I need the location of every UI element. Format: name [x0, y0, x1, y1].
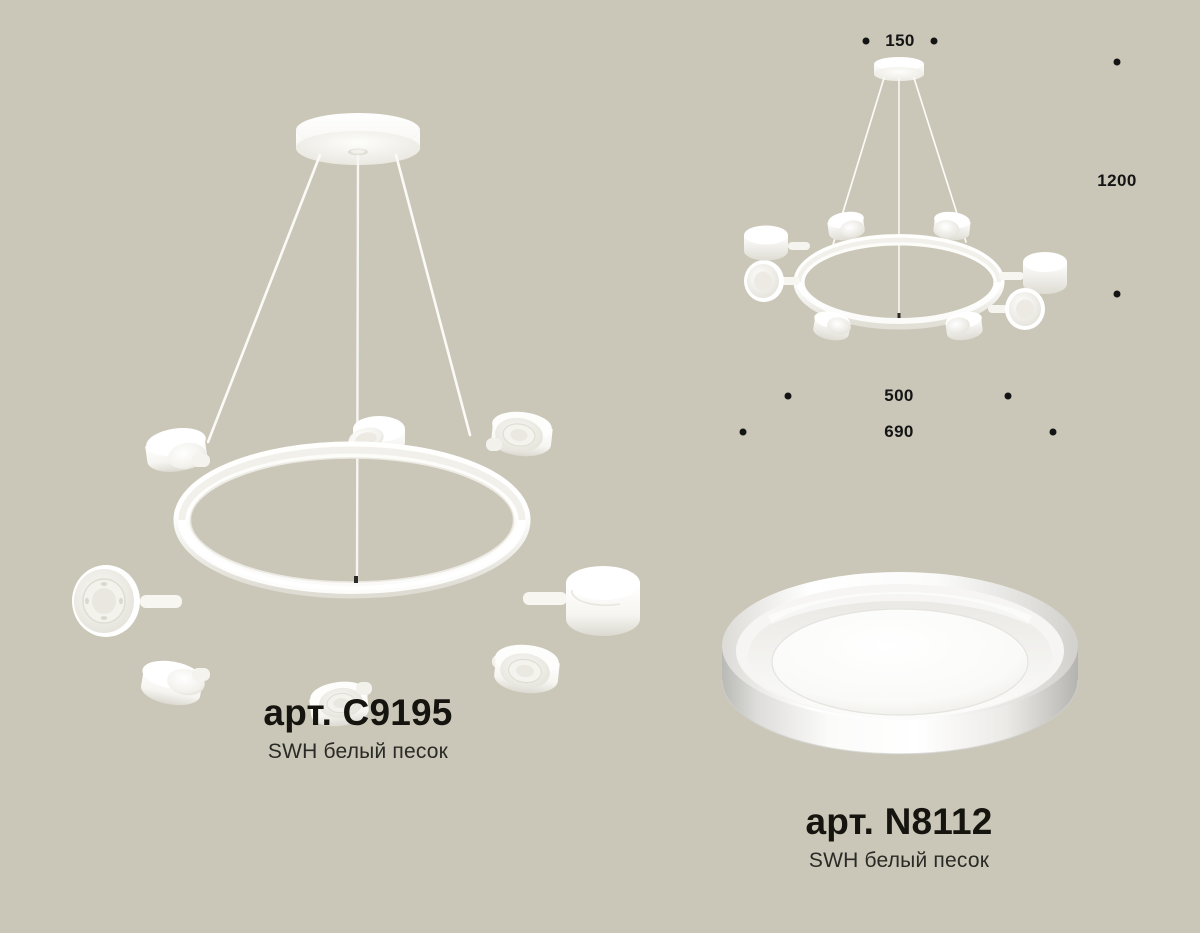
- caption-n8112: арт. N8112 SWH белый песок: [805, 803, 992, 872]
- finish-label-n8112: SWH белый песок: [805, 849, 992, 872]
- dimension-dot-500-right: [1005, 393, 1012, 400]
- dimension-label-690: 690: [884, 422, 914, 442]
- product-image-c9195-dimensioned: [700, 30, 1100, 390]
- dimension-dot-1200-top: [1114, 59, 1121, 66]
- article-number-n8112: арт. N8112: [805, 803, 992, 842]
- spot-head-lower-right: [492, 642, 560, 696]
- spot-head-lower-left: [139, 656, 210, 709]
- spot-head-left: [72, 565, 182, 637]
- caption-c9195: арт. C9195 SWH белый песок: [263, 694, 452, 763]
- spot-head-upper-left: [144, 424, 210, 475]
- suspension-cables-small: [832, 78, 966, 316]
- dimension-label-1200: 1200: [1097, 171, 1136, 191]
- product-spec-sheet: 150 1200 500 690 арт. C9195 SWH белый пе…: [0, 0, 1200, 933]
- spot-head-right: [523, 566, 640, 636]
- spot-head-upper-right: [486, 409, 553, 459]
- dimension-dot-690-right: [1050, 429, 1057, 436]
- product-image-n8112: [700, 520, 1100, 770]
- diffuser-disc-n8112: [772, 609, 1028, 715]
- dimension-dot-690-left: [740, 429, 747, 436]
- article-number-c9195: арт. C9195: [263, 694, 452, 733]
- dimension-dot-1200-bottom: [1114, 291, 1121, 298]
- dimension-dot-500-left: [785, 393, 792, 400]
- product-image-c9195: [0, 90, 680, 670]
- suspension-cables-c9195: [208, 155, 470, 580]
- finish-label-c9195: SWH белый песок: [263, 740, 452, 763]
